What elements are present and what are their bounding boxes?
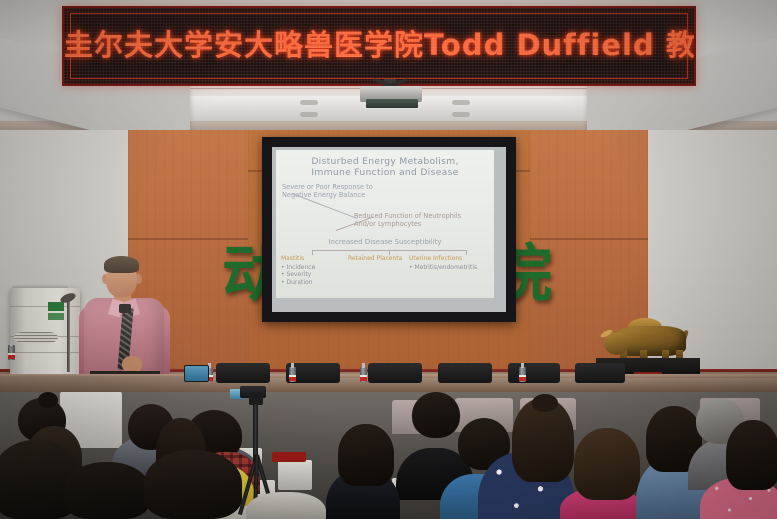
slide-line1a: Severe or Poor Response to <box>282 183 373 191</box>
presentation-slide: Disturbed Energy Metabolism, Immune Func… <box>276 150 494 298</box>
water-bottle <box>519 362 526 382</box>
slide-column-retained-placenta: Retained Placenta <box>348 255 402 264</box>
slide-bullet: • Incidence <box>281 264 315 272</box>
bottle-cap <box>291 363 294 368</box>
speaker-hair <box>104 256 139 273</box>
slide-text-reduced-function: Reduced Function of Neutrophils And/or L… <box>354 212 494 228</box>
projector-lens-body <box>366 99 418 108</box>
red-folder <box>272 452 306 462</box>
ceiling-vent <box>300 100 318 105</box>
audience-member-hair <box>574 428 640 500</box>
slide-column-heading: Mastitis <box>281 255 315 263</box>
chair <box>368 363 422 383</box>
ac-label-badge <box>48 302 64 311</box>
audience-member-head <box>412 392 460 438</box>
bottle-label <box>8 353 15 359</box>
ceiling-vent <box>452 100 470 105</box>
audience-member-hair-bun <box>532 394 558 412</box>
bottle-label <box>360 375 367 381</box>
slide-title-line2: Immune Function and Disease <box>276 167 494 178</box>
audience-member-head-foreground <box>144 450 242 519</box>
desk-monitor <box>184 365 209 382</box>
bottle-label <box>519 375 526 381</box>
slide-column-uterine-infections: Uterine Infections • Metritis/endometrit… <box>409 255 477 271</box>
projection-screen-frame: Disturbed Energy Metabolism, Immune Func… <box>262 137 516 322</box>
audience-member-hair-bun <box>38 392 58 408</box>
slide-bullet: • Duration <box>281 279 315 287</box>
audience-member-hair <box>726 420 777 490</box>
slide-column-heading: Retained Placenta <box>348 255 402 263</box>
chair <box>216 363 270 383</box>
chair <box>438 363 492 383</box>
speaker-tie-knot <box>119 304 131 313</box>
water-bottle <box>360 362 367 382</box>
bottle-label <box>289 375 296 381</box>
ceiling-vent <box>300 112 318 117</box>
lecture-hall-photo: 圭尔夫大学安大略兽医学院Todd Duffield 教授 动 院 Disturb… <box>0 0 777 519</box>
chair <box>575 363 625 383</box>
slide-column-heading: Uterine Infections <box>409 255 477 263</box>
slide-bullet: • Metritis/endometritis <box>409 264 477 272</box>
slide-title-line1: Disturbed Energy Metabolism, <box>276 156 494 167</box>
slide-bullet: • Severity <box>281 271 315 279</box>
audience-member-shoulders <box>246 492 326 519</box>
bottle-cap <box>362 363 365 368</box>
ac-vent-grille <box>14 332 58 343</box>
slide-line2b: And/or Lymphocytes <box>354 220 421 228</box>
projection-screen-surface: Disturbed Energy Metabolism, Immune Func… <box>272 147 506 312</box>
slide-column-mastitis: Mastitis • Incidence • Severity • Durati… <box>281 255 315 286</box>
audience-member-head-foreground <box>64 462 150 519</box>
bottle-cap <box>10 341 13 346</box>
audience-member-hair <box>338 424 394 486</box>
bench-desk <box>278 460 312 490</box>
ac-label-badge <box>48 313 64 320</box>
led-banner: 圭尔夫大学安大略兽医学院Todd Duffield 教授 <box>62 6 696 86</box>
led-banner-text: 圭尔夫大学安大略兽医学院Todd Duffield 教授 <box>64 22 694 64</box>
bottle-cap <box>521 363 524 368</box>
slide-text-disease-susceptibility: Increased Disease Susceptibility <box>276 238 494 246</box>
slide-line2a: Reduced Function of Neutrophils <box>354 212 461 220</box>
chair <box>508 363 560 383</box>
tripod-column <box>253 404 258 462</box>
water-bottle <box>289 362 296 382</box>
microphone-stand <box>67 300 70 372</box>
ceiling-vent <box>452 112 470 117</box>
water-bottle <box>8 340 15 360</box>
